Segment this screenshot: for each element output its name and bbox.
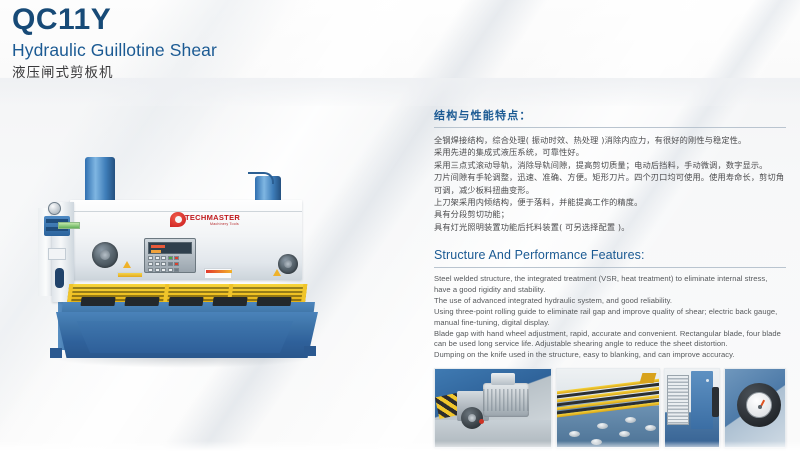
- panel-key: [155, 262, 160, 266]
- product-model-title: QC11Y: [12, 4, 442, 36]
- blade-gap-handwheel: [92, 242, 118, 268]
- feature-line: Dumping on the knife used in the structu…: [434, 350, 786, 361]
- feature-line: 具有分段剪切功能；: [434, 208, 786, 220]
- panel-key: [155, 268, 160, 272]
- machine-handle: [55, 268, 64, 288]
- panel-key: [168, 268, 173, 272]
- junction-box: [491, 373, 515, 385]
- feature-line: The use of advanced integrated hydraulic…: [434, 296, 786, 307]
- feature-line: 刀片间隙有手轮调整，迅速、准确、方便。矩形刀片。四个刃口均可使用。使用寿命长，剪…: [434, 171, 786, 196]
- guard-bar: [69, 287, 307, 289]
- panel-key: [161, 262, 166, 266]
- hydraulic-hose: [248, 172, 274, 184]
- features-section-english: Structure And Performance Features: Stee…: [434, 247, 786, 361]
- drive-hub: [461, 407, 483, 429]
- warning-triangle-icon: [273, 269, 281, 276]
- panel-key-stop: [174, 256, 179, 260]
- panel-key: [161, 256, 166, 260]
- feature-line: 具有灯光照明装置功能后托料装置( 可另选择配置 )。: [434, 221, 786, 233]
- oil-cooler-radiator: [667, 375, 689, 425]
- pressure-gauge-photo: [724, 368, 786, 448]
- control-panel-key-row: [148, 256, 192, 260]
- machine-foot-right: [304, 346, 316, 356]
- guard-bar: [68, 291, 306, 293]
- machine-base-front-panel: [72, 321, 298, 353]
- hold-down-clamp: [212, 297, 247, 306]
- hold-down-clamp: [124, 297, 159, 306]
- panel-key: [148, 256, 153, 260]
- warning-decal-yellow: [117, 272, 143, 278]
- machine-product-photo: TECHMASTER Machinery Tools: [22, 150, 342, 385]
- page-header: QC11Y Hydraulic Guillotine Shear 液压闸式剪板机: [12, 4, 442, 83]
- specification-decal: [204, 268, 232, 279]
- logo-tagline: Machinery Tools: [210, 222, 239, 226]
- red-bolt: [479, 419, 484, 424]
- brochure-page: QC11Y Hydraulic Guillotine Shear 液压闸式剪板机: [0, 0, 800, 451]
- product-title-english: Hydraulic Guillotine Shear: [12, 38, 442, 62]
- features-body-english: Steel welded structure, the integrated t…: [434, 274, 786, 361]
- gauge-rubber-boot: [737, 383, 781, 427]
- control-panel-key-row: [148, 268, 192, 272]
- hold-down-clamp: [80, 297, 115, 306]
- section-heading-chinese: 结构与性能特点：: [434, 108, 786, 124]
- feature-line: 采用先进的集成式液压系统，可靠性好。: [434, 146, 786, 158]
- pressure-gauge-icon: [48, 202, 61, 215]
- features-section-chinese: 结构与性能特点： 全钢焊接结构，综合处理( 振动时效、热处理 )消除内应力，有很…: [434, 108, 786, 233]
- ball-transfer: [619, 431, 630, 437]
- ball-transfer: [569, 431, 580, 437]
- bottom-fade: [0, 441, 800, 451]
- work-table-photo: [556, 368, 660, 448]
- adjustment-knob: [278, 254, 298, 274]
- panel-key: [155, 256, 160, 260]
- heading-divider: [434, 267, 786, 268]
- techmaster-logo: TECHMASTER Machinery Tools: [170, 212, 240, 228]
- guard-end-cap: [640, 373, 657, 383]
- ball-transfer: [597, 423, 608, 429]
- feature-line: 采用三点式滚动导轨，消除导轨间隙，提高剪切质量；电动后挡料，手动微调，数字显示。: [434, 159, 786, 171]
- feature-line: Using three-point rolling guide to elimi…: [434, 307, 786, 328]
- features-column: 结构与性能特点： 全钢焊接结构，综合处理( 振动时效、热处理 )消除内应力，有很…: [434, 108, 786, 362]
- panel-key: [174, 268, 179, 272]
- nc-control-panel: [144, 238, 196, 273]
- heading-divider: [434, 127, 786, 128]
- electric-motor: [483, 383, 529, 417]
- panel-key-start: [168, 256, 173, 260]
- detail-photo-strip: [434, 368, 786, 448]
- gauge-hub: [758, 405, 762, 409]
- panel-key: [168, 262, 173, 266]
- hydraulic-cooler-photo: [664, 368, 720, 448]
- control-panel-key-row: [148, 262, 192, 266]
- section-heading-english: Structure And Performance Features:: [434, 247, 786, 264]
- machine-base: [56, 312, 318, 358]
- panel-key: [148, 268, 153, 272]
- control-panel-display: [148, 242, 192, 254]
- warning-triangle-icon: [123, 261, 131, 268]
- features-body-chinese: 全钢焊接结构，综合处理( 振动时效、热处理 )消除内应力，有很好的刚性与稳定性。…: [434, 134, 786, 233]
- hydraulic-tank-panel: [691, 371, 713, 429]
- green-indicator-strip: [58, 222, 80, 229]
- product-title-chinese: 液压闸式剪板机: [12, 63, 442, 83]
- machine-nameplate: [48, 248, 66, 260]
- ball-transfer: [625, 417, 636, 423]
- ball-transfer: [645, 425, 656, 431]
- machine-foot-left: [50, 348, 62, 358]
- feature-line: Steel welded structure, the integrated t…: [434, 274, 786, 295]
- hold-down-clamp: [256, 297, 291, 306]
- feature-line: 全钢焊接结构，综合处理( 振动时效、热处理 )消除内应力，有很好的刚性与稳定性。: [434, 134, 786, 146]
- feature-line: Blade gap with hand wheel adjustment, ra…: [434, 329, 786, 350]
- panel-key: [148, 262, 153, 266]
- hold-down-clamp: [168, 297, 203, 306]
- panel-key: [161, 268, 166, 272]
- motor-gearbox-photo: [434, 368, 552, 448]
- hydraulic-piping: [712, 387, 719, 417]
- gauge-dial-face: [746, 392, 772, 418]
- feature-line: 上刀架采用内倾结构，便于落料，并能提高工作的精度。: [434, 196, 786, 208]
- panel-key-emergency: [174, 262, 179, 266]
- logo-mark-icon: [170, 212, 186, 227]
